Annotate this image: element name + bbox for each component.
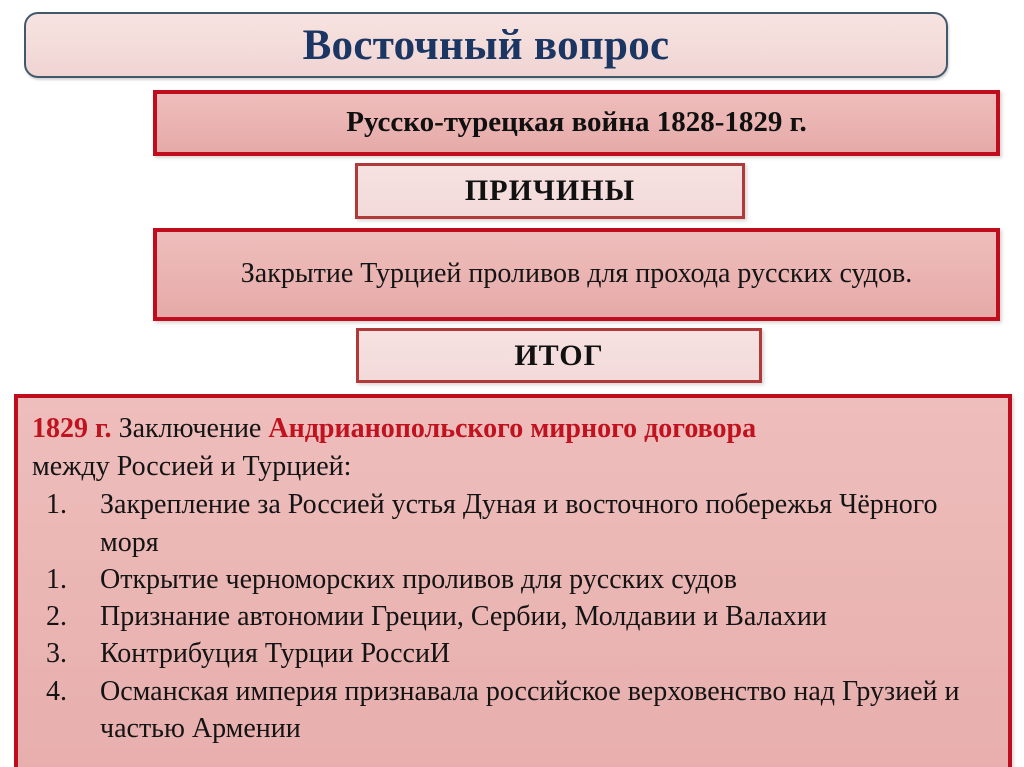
causes-label: ПРИЧИНЫ [465, 176, 635, 206]
list-item-number: 1. [46, 486, 86, 523]
war-topic-label: Русско-турецкая война 1828-1829 г. [346, 107, 807, 139]
list-item-text: Открытие черноморских проливов для русск… [100, 564, 737, 595]
causes-text: Закрытие Турцией проливов для прохода ру… [241, 255, 912, 294]
outcome-list: 1. Закрепление за Россией устья Дуная и … [32, 486, 994, 747]
list-item: 1. Закрепление за Россией устья Дуная и … [32, 486, 994, 560]
list-item-text: Контрибуция Турции РоссиИ [100, 638, 450, 669]
outcome-heading-line2: между Россией и Турцией: [32, 448, 994, 485]
list-item: 2. Признание автономии Греции, Сербии, М… [32, 598, 994, 635]
list-item: 4. Османская империя признавала российск… [32, 673, 994, 747]
outcome-content-box: 1829 г. Заключение Андрианопольского мир… [14, 394, 1012, 767]
list-item-text: Признание автономии Греции, Сербии, Молд… [100, 601, 827, 632]
outcome-heading-mid: Заключение [112, 413, 269, 444]
outcome-treaty-name: Андрианопольского мирного договора [268, 413, 756, 444]
causes-label-box: ПРИЧИНЫ [355, 163, 745, 219]
slide-canvas: Восточный вопрос Русско-турецкая война 1… [0, 0, 1024, 767]
list-item-text: Османская империя признавала российское … [100, 676, 959, 744]
page-title: Восточный вопрос [303, 24, 670, 67]
causes-content-box: Закрытие Турцией проливов для прохода ру… [153, 228, 1000, 321]
list-item-number: 1. [46, 561, 86, 598]
list-item-number: 2. [46, 598, 86, 635]
list-item-text: Закрепление за Россией устья Дуная и вос… [100, 489, 938, 557]
outcome-heading: 1829 г. Заключение Андрианопольского мир… [32, 410, 994, 447]
list-item-number: 3. [46, 635, 86, 672]
slide-title-box: Восточный вопрос [24, 12, 948, 78]
list-item: 1. Открытие черноморских проливов для ру… [32, 561, 994, 598]
result-label-box: ИТОГ [356, 328, 762, 383]
outcome-year: 1829 г. [32, 413, 112, 444]
list-item-number: 4. [46, 673, 86, 710]
result-label: ИТОГ [514, 341, 603, 371]
list-item: 3. Контрибуция Турции РоссиИ [32, 635, 994, 672]
war-topic-box: Русско-турецкая война 1828-1829 г. [153, 90, 1000, 156]
